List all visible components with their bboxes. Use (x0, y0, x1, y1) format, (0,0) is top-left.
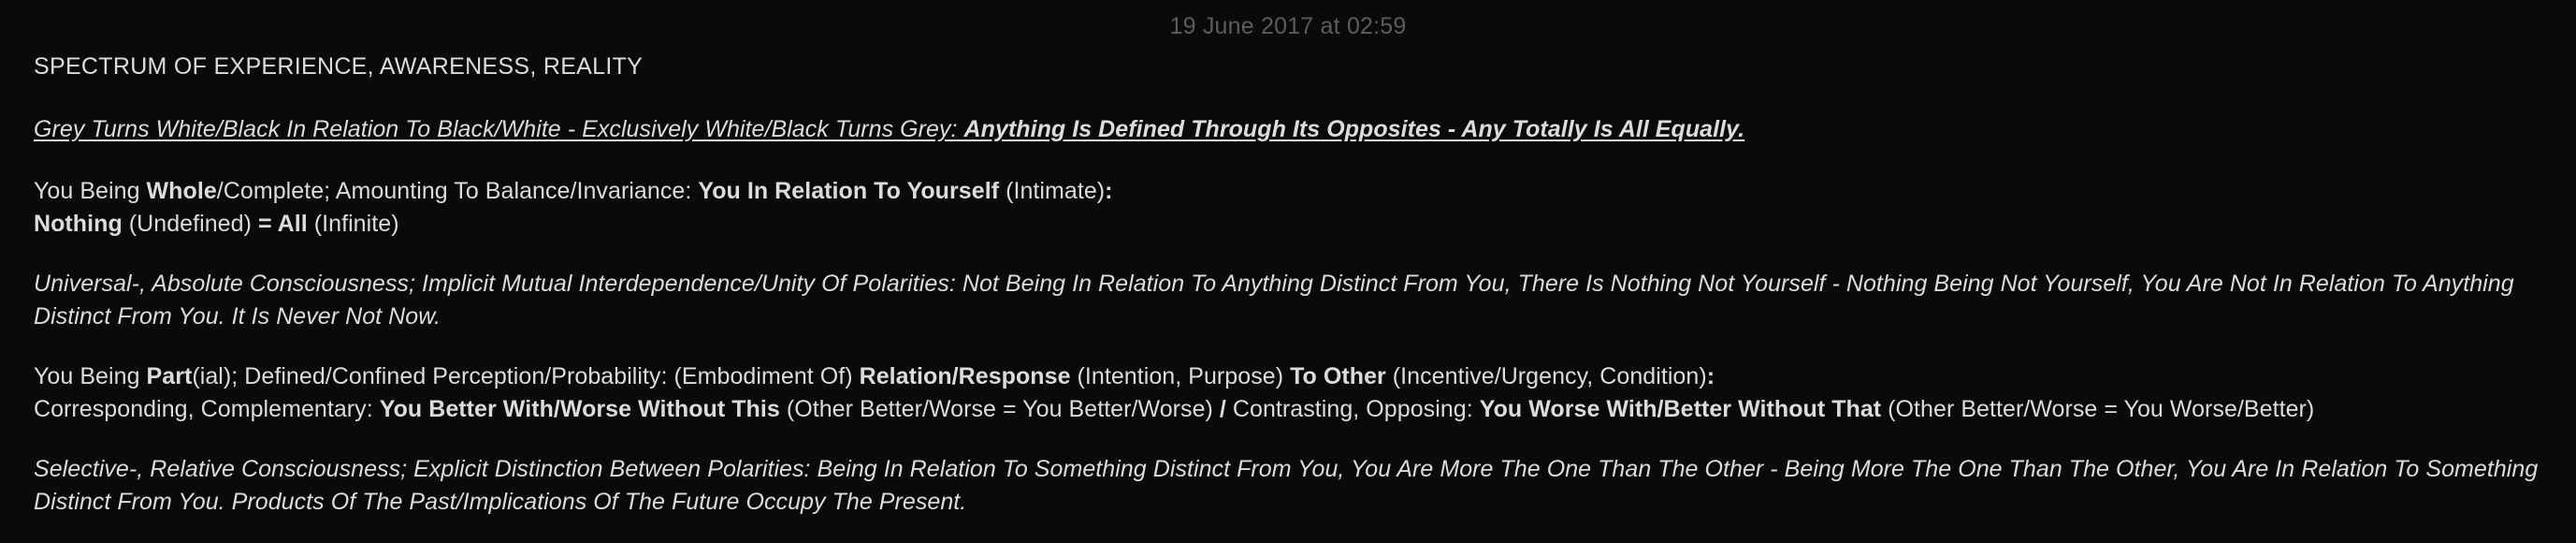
text-segment: (Infinite) (308, 211, 399, 237)
paragraph-selective-relative: Selective-, Relative Consciousness; Expl… (34, 453, 2542, 519)
text-segment: /Complete; Amounting To Balance/Invarian… (217, 178, 699, 204)
paragraph-you-being-whole: You Being Whole/Complete; Amounting To B… (34, 175, 2542, 241)
text-segment: (Incentive/Urgency, Condition) (1386, 363, 1707, 389)
text-segment: (Intimate) (999, 178, 1105, 204)
page-title: SPECTRUM OF EXPERIENCE, AWARENESS, REALI… (34, 52, 2542, 81)
text-segment: (Other Better/Worse = You Better/Worse) (780, 396, 1220, 422)
paragraph-you-being-part: You Being Part(ial); Defined/Confined Pe… (34, 360, 2542, 426)
text-segment: You Worse With/Better Without That (1480, 396, 1881, 422)
text-segment: Whole (147, 178, 217, 204)
note-timestamp: 19 June 2017 at 02:59 (0, 13, 2576, 40)
text-segment: Part (147, 363, 193, 389)
text-segment: : (1707, 363, 1715, 389)
text-segment: Grey Turns White/Black In Relation To Bl… (34, 116, 964, 142)
text-segment: Anything Is Defined Through Its Opposite… (964, 116, 1745, 142)
text-segment: Contrasting, Opposing: (1226, 396, 1480, 422)
text-segment: = All (258, 211, 308, 237)
text-segment: (ial); Defined/Confined Perception/Proba… (192, 363, 859, 389)
paragraph-list: Grey Turns White/Black In Relation To Bl… (34, 113, 2542, 519)
text-segment: Universal-, Absolute Consciousness; Impl… (34, 271, 2514, 330)
text-segment: (Intention, Purpose) (1071, 363, 1291, 389)
text-segment: Nothing (34, 211, 123, 237)
text-segment: / (1220, 396, 1226, 422)
text-segment: : (1105, 178, 1112, 204)
text-segment: To Other (1290, 363, 1386, 389)
text-segment: (Undefined) (123, 211, 258, 237)
text-line-whole-line-1: You Being Whole/Complete; Amounting To B… (34, 175, 2542, 208)
text-line-part-line-2: Corresponding, Complementary: You Better… (34, 393, 2542, 426)
text-line-whole-line-2: Nothing (Undefined) = All (Infinite) (34, 208, 2542, 241)
text-segment: (Other Better/Worse = You Worse/Better) (1881, 396, 2314, 422)
text-segment: You Being (34, 178, 147, 204)
paragraph-grey-turns-white: Grey Turns White/Black In Relation To Bl… (34, 113, 2542, 146)
text-segment: Corresponding, Complementary: (34, 396, 380, 422)
text-segment: You Being (34, 363, 147, 389)
note-body[interactable]: SPECTRUM OF EXPERIENCE, AWARENESS, REALI… (34, 52, 2542, 519)
text-segment: Relation/Response (860, 363, 1071, 389)
paragraph-universal-absolute: Universal-, Absolute Consciousness; Impl… (34, 268, 2542, 333)
text-line-part-line-1: You Being Part(ial); Defined/Confined Pe… (34, 360, 2542, 393)
text-segment: Selective-, Relative Consciousness; Expl… (34, 456, 2538, 515)
text-segment: You Better With/Worse Without This (380, 396, 780, 422)
text-segment: You In Relation To Yourself (698, 178, 999, 204)
note-page: 19 June 2017 at 02:59 SPECTRUM OF EXPERI… (0, 0, 2576, 543)
